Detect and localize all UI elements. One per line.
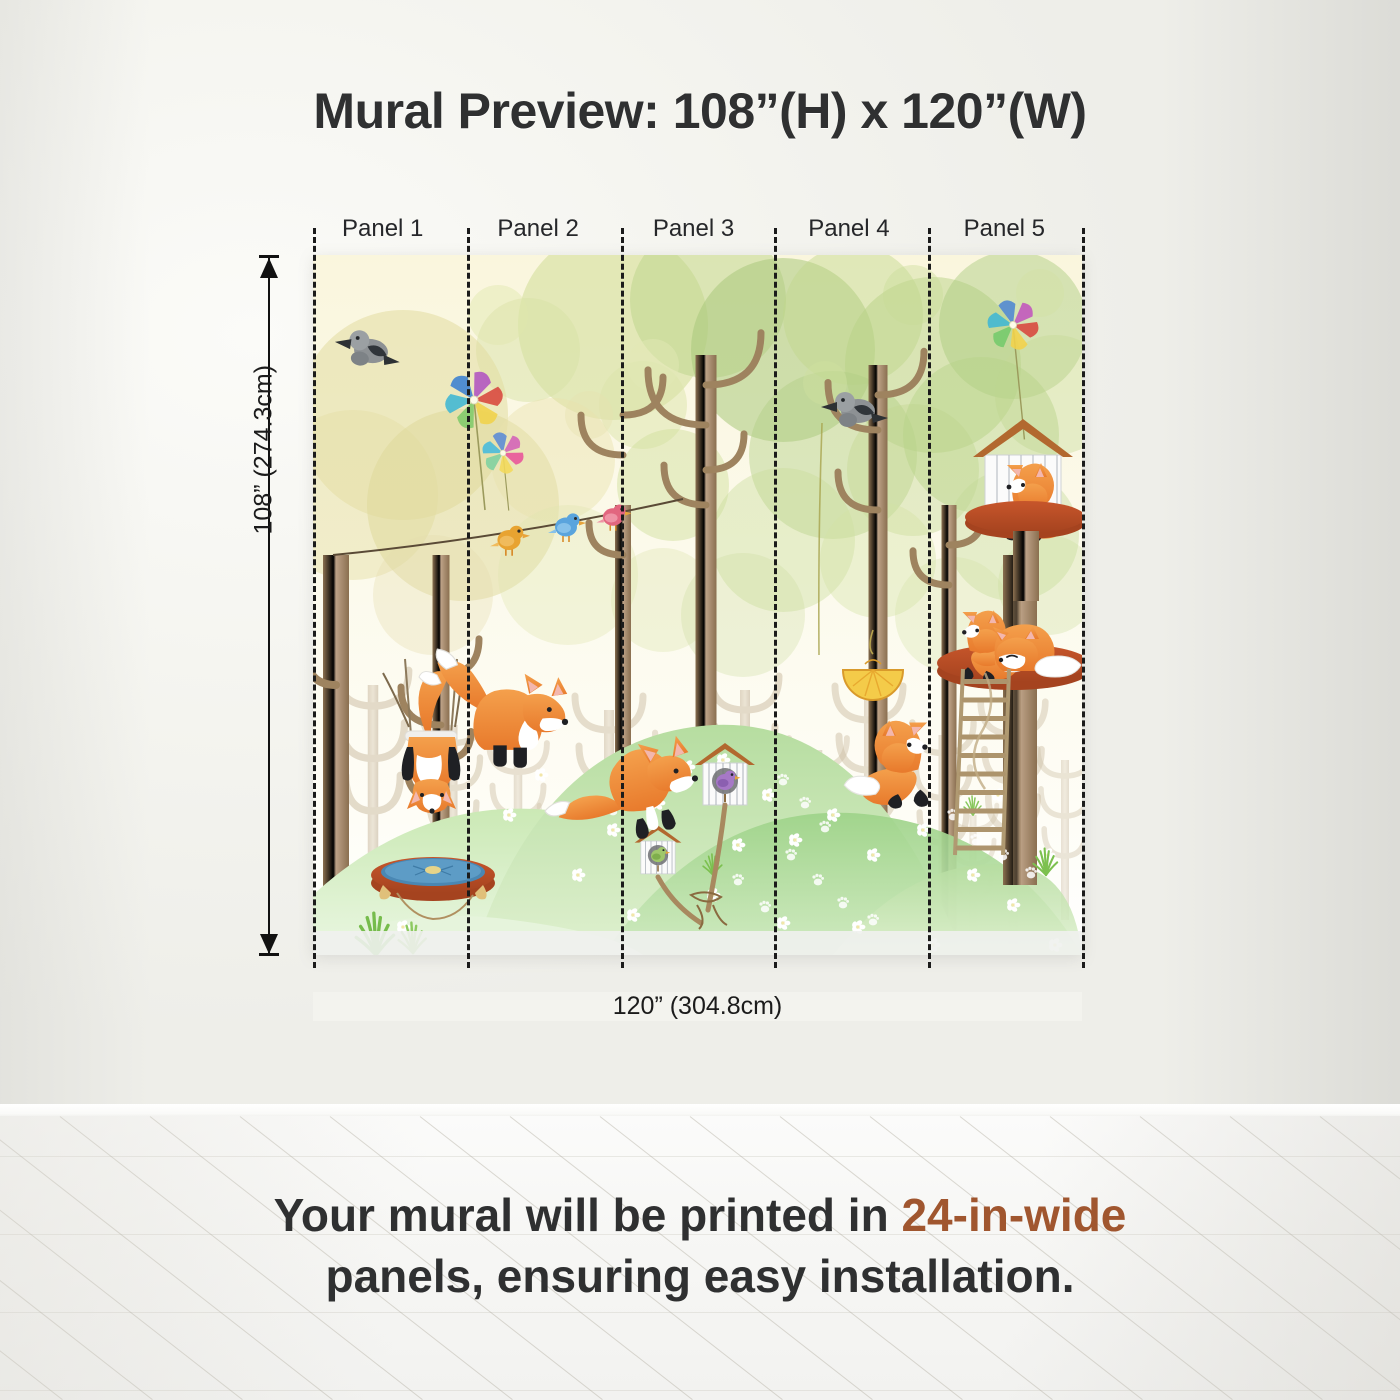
wall-shadow-right (1160, 0, 1400, 1116)
print-info-caption: Your mural will be printed in 24-in-wide… (0, 1185, 1400, 1306)
panel-label-4: Panel 4 (771, 215, 926, 251)
panel-label-3: Panel 3 (616, 215, 771, 251)
height-dimension-label: 108” (274.3cm) (250, 495, 279, 535)
panel-label-row: Panel 1 Panel 2 Panel 3 Panel 4 Panel 5 (305, 215, 1082, 251)
mural-preview-image (313, 255, 1082, 955)
caption-accent: 24-in-wide (901, 1189, 1126, 1241)
width-dimension-label: 120” (304.8cm) (313, 992, 1082, 1021)
panel-label-5: Panel 5 (927, 215, 1082, 251)
panel-label-2: Panel 2 (460, 215, 615, 251)
arrow-up-icon (259, 258, 279, 280)
caption-line2: panels, ensuring easy installation. (325, 1250, 1074, 1302)
arrow-down-icon (259, 932, 279, 954)
caption-line1-pre: Your mural will be printed in (274, 1189, 902, 1241)
page-title: Mural Preview: 108”(H) x 120”(W) (0, 82, 1400, 140)
panel-label-1: Panel 1 (305, 215, 460, 251)
wall-shadow-left (0, 0, 150, 1116)
